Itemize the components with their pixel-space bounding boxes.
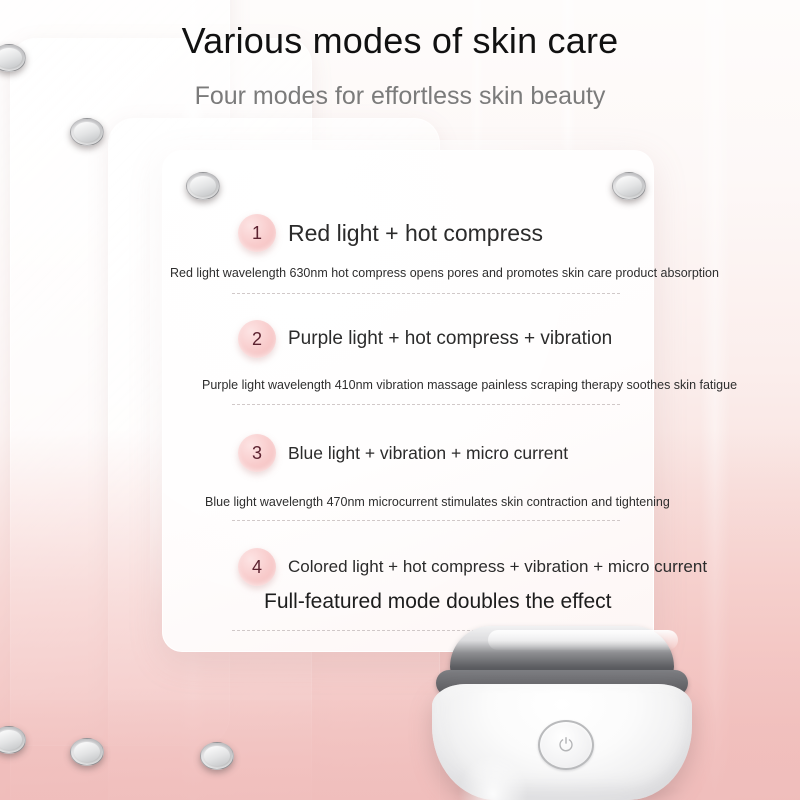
mode-description: Full-featured mode doubles the effect (264, 590, 612, 614)
poster-canvas: Various modes of skin care Four modes fo… (0, 0, 800, 800)
rivet-screw (200, 742, 234, 770)
rivet-screw (186, 172, 220, 200)
mode-description: Red light wavelength 630nm hot compress … (170, 266, 719, 280)
mode-description: Purple light wavelength 410nm vibration … (202, 378, 737, 392)
mode-divider (232, 293, 620, 294)
mode-divider (232, 520, 620, 521)
page-title: Various modes of skin care (0, 20, 800, 62)
power-button[interactable]: ⏻ (538, 720, 594, 770)
power-icon: ⏻ (559, 736, 573, 754)
device-top-gloss (488, 630, 678, 650)
rivet-screw (612, 172, 646, 200)
rivet-screw (70, 738, 104, 766)
mode-title: Blue light + vibration + micro current (288, 443, 568, 464)
device-body: ⏻ (432, 684, 692, 800)
device-highlight (458, 754, 528, 800)
mode-row-4[interactable]: 4 Colored light + hot compress + vibrati… (238, 548, 707, 586)
beauty-device: ⏻ (428, 626, 696, 800)
mode-row-2[interactable]: 2 Purple light + hot compress + vibratio… (238, 320, 612, 358)
mode-number-badge: 1 (238, 214, 276, 252)
mode-number-badge: 4 (238, 548, 276, 586)
mode-title: Colored light + hot compress + vibration… (288, 557, 707, 577)
mode-divider (232, 404, 620, 405)
mode-row-1[interactable]: 1 Red light + hot compress (238, 214, 543, 252)
mode-title: Purple light + hot compress + vibration (288, 328, 612, 350)
mode-number-badge: 3 (238, 434, 276, 472)
mode-row-3[interactable]: 3 Blue light + vibration + micro current (238, 434, 568, 472)
rivet-screw (70, 118, 104, 146)
page-subtitle: Four modes for effortless skin beauty (0, 82, 800, 111)
mode-description: Blue light wavelength 470nm microcurrent… (205, 495, 670, 509)
mode-number-badge: 2 (238, 320, 276, 358)
mode-title: Red light + hot compress (288, 220, 543, 247)
